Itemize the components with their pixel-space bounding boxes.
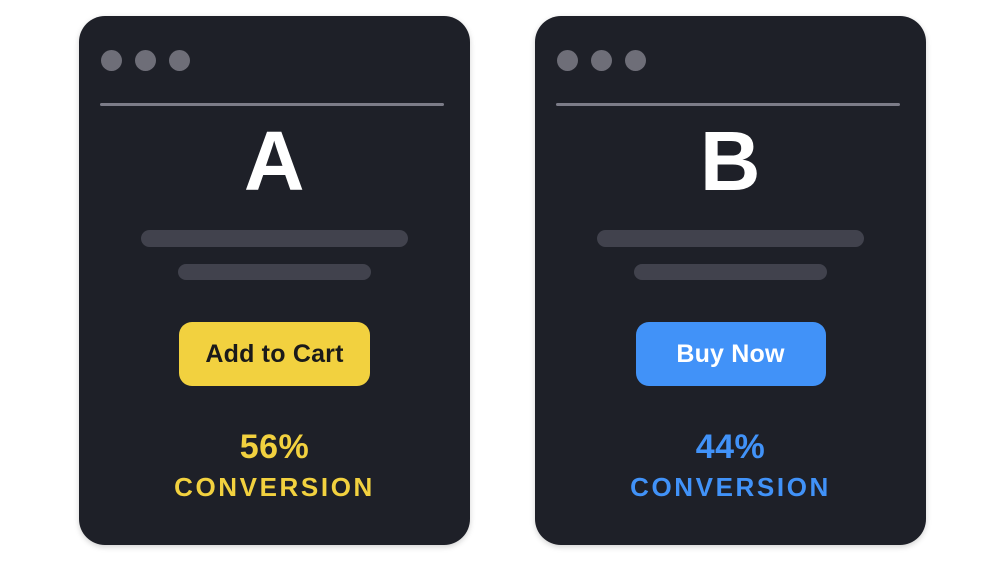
variant-b-conversion-value: 44%: [535, 428, 926, 467]
window-dot-minimize-icon[interactable]: [135, 50, 156, 71]
variant-a-card[interactable]: A Add to Cart 56% CONVERSION: [79, 16, 470, 545]
variant-b-conversion-label: CONVERSION: [535, 473, 926, 503]
window-titlebar-b: [557, 50, 646, 71]
content-placeholder-b: [535, 230, 926, 280]
window-dot-close-icon[interactable]: [101, 50, 122, 71]
variant-b-letter: B: [535, 119, 926, 203]
content-placeholder-a: [79, 230, 470, 280]
window-dot-maximize-icon[interactable]: [169, 50, 190, 71]
ab-test-comparison-canvas: A Add to Cart 56% CONVERSION B Buy Now: [0, 0, 1003, 562]
window-dot-minimize-icon[interactable]: [591, 50, 612, 71]
buy-now-button[interactable]: Buy Now: [636, 322, 826, 386]
variant-a-conversion-label: CONVERSION: [79, 473, 470, 503]
titlebar-divider-a: [100, 103, 444, 106]
titlebar-divider-b: [556, 103, 900, 106]
variant-b-card[interactable]: B Buy Now 44% CONVERSION: [535, 16, 926, 545]
variant-a-cta-container: Add to Cart: [79, 322, 470, 386]
variant-a-stats: 56% CONVERSION: [79, 428, 470, 503]
placeholder-bar-primary: [141, 230, 408, 247]
window-dot-maximize-icon[interactable]: [625, 50, 646, 71]
placeholder-bar-secondary: [178, 264, 371, 280]
placeholder-bar-primary: [597, 230, 864, 247]
variant-a-letter: A: [79, 119, 470, 203]
add-to-cart-button[interactable]: Add to Cart: [179, 322, 369, 386]
placeholder-bar-secondary: [634, 264, 827, 280]
variant-b-cta-container: Buy Now: [535, 322, 926, 386]
window-titlebar-a: [101, 50, 190, 71]
window-dot-close-icon[interactable]: [557, 50, 578, 71]
variant-a-conversion-value: 56%: [79, 428, 470, 467]
variant-b-stats: 44% CONVERSION: [535, 428, 926, 503]
